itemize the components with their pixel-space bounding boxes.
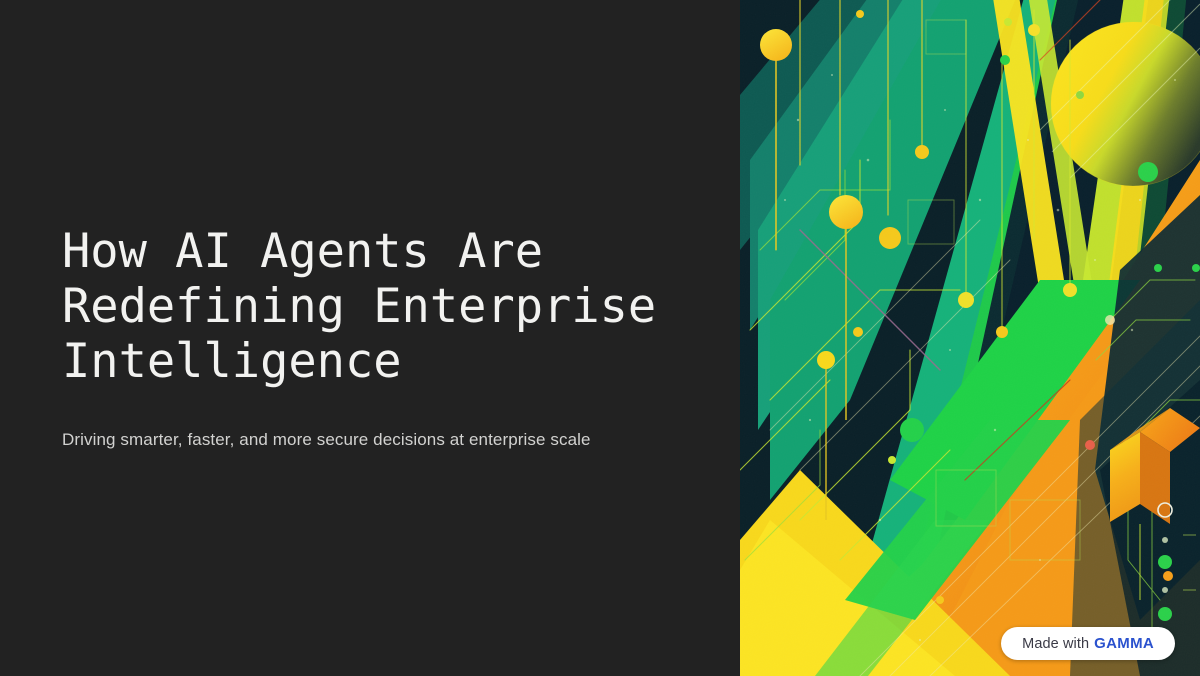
decorative-artwork: Made with GAMMA xyxy=(740,0,1200,676)
artwork-svg xyxy=(740,0,1200,676)
slide-subtitle: Driving smarter, faster, and more secure… xyxy=(62,428,700,453)
slide-text-panel: How AI Agents Are Redefining Enterprise … xyxy=(0,0,740,676)
page-title: How AI Agents Are Redefining Enterprise … xyxy=(62,224,700,390)
badge-prefix-label: Made with xyxy=(1022,636,1089,652)
grain-overlay xyxy=(740,0,1200,676)
made-with-gamma-badge[interactable]: Made with GAMMA xyxy=(1001,627,1175,660)
gamma-brand-label: GAMMA xyxy=(1094,635,1154,652)
presentation-slide: How AI Agents Are Redefining Enterprise … xyxy=(0,0,1200,676)
